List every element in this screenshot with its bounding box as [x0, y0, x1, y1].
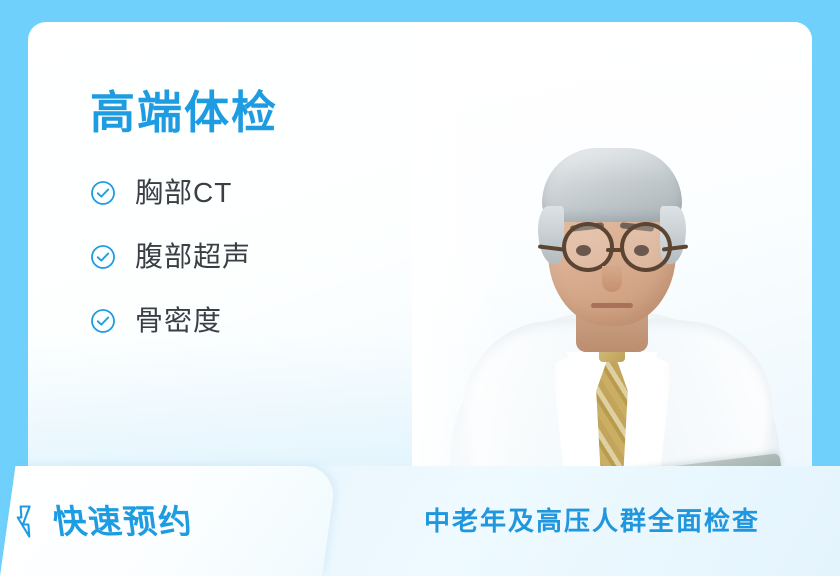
senior-doctor-photo [412, 22, 812, 522]
check-circle-icon [90, 180, 116, 206]
eyeglasses-bridge [606, 248, 622, 252]
feature-list: 胸部CT 腹部超声 [90, 179, 420, 335]
lightning-bolt-icon [12, 505, 43, 538]
nose [602, 266, 622, 292]
feature-label: 腹部超声 [135, 243, 251, 271]
card-text-column: 高端体检 胸部CT [90, 90, 420, 371]
quick-booking-label: 快速预约 [51, 505, 196, 538]
feature-label: 骨密度 [135, 307, 222, 335]
banner-subtitle: 中老年及高压人群全面检查 [424, 508, 760, 534]
check-circle-icon [90, 244, 116, 270]
bottom-bar-subtitle-wrap: 中老年及高压人群全面检查 [282, 466, 840, 576]
list-item: 腹部超声 [90, 243, 420, 271]
quick-booking-button[interactable]: 快速预约 [0, 466, 322, 576]
gray-hair-side-left [538, 206, 564, 264]
bottom-bar-right-panel: 中老年及高压人群全面检查 [282, 466, 840, 576]
mouth [591, 303, 633, 308]
list-item: 骨密度 [90, 307, 420, 335]
eyeglasses-lens-left [562, 222, 614, 272]
list-item: 胸部CT [90, 179, 420, 207]
page-title: 高端体检 [90, 90, 420, 135]
bottom-bar: 中老年及高压人群全面检查 快速预约 [0, 466, 840, 576]
feature-label: 胸部CT [135, 179, 232, 207]
promo-banner: 高端体检 胸部CT [0, 0, 840, 576]
check-circle-icon [90, 308, 116, 334]
